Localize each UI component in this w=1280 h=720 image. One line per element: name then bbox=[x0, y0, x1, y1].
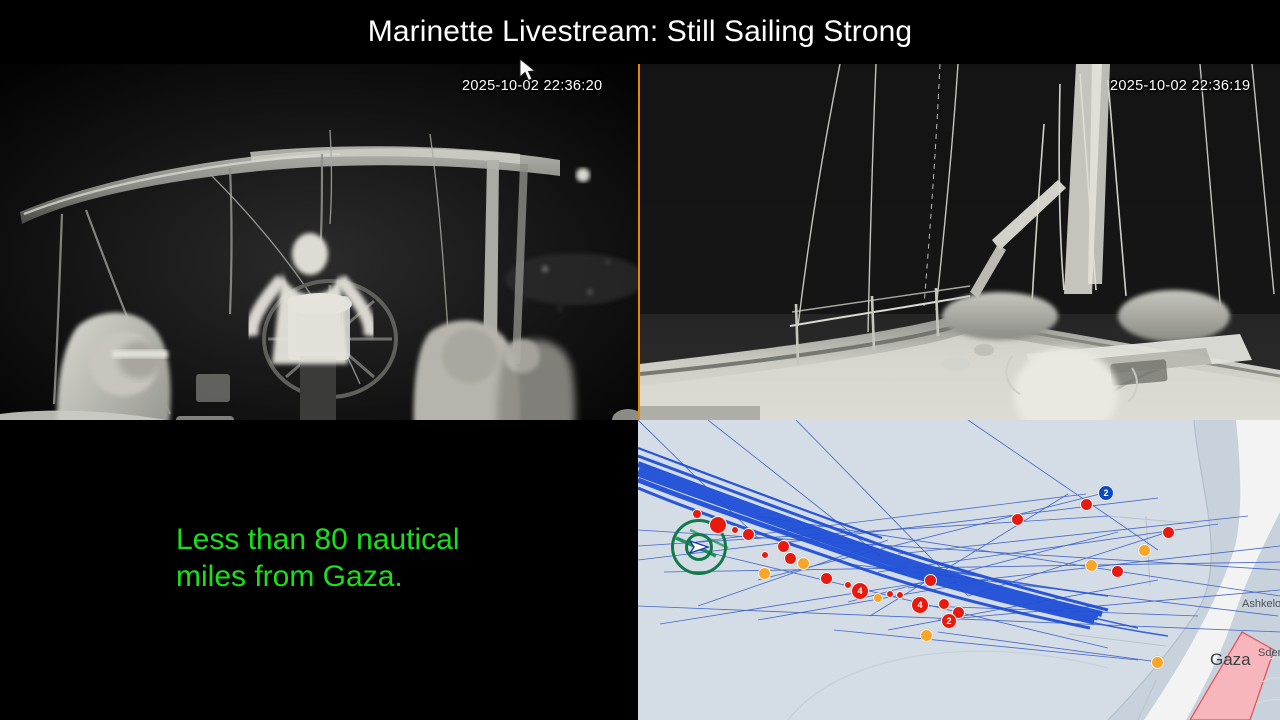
map-vessel-marker[interactable] bbox=[873, 593, 883, 603]
map-vessel-marker[interactable] bbox=[709, 516, 727, 534]
map-vessel-marker[interactable] bbox=[1138, 544, 1151, 557]
map-canvas bbox=[638, 420, 1280, 720]
cockpit-scene bbox=[0, 64, 638, 420]
map-vessel-marker[interactable] bbox=[692, 509, 702, 519]
map-vessel-marker[interactable] bbox=[896, 591, 904, 599]
map-vessel-marker[interactable] bbox=[1151, 656, 1164, 669]
map-vessel-marker[interactable] bbox=[784, 552, 797, 565]
map-vessel-marker[interactable] bbox=[731, 526, 739, 534]
map-vessel-marker[interactable] bbox=[820, 572, 833, 585]
map-vessel-marker[interactable] bbox=[1011, 513, 1024, 526]
map-vessel-marker[interactable]: 2 bbox=[941, 613, 957, 629]
bow-deck-scene bbox=[640, 64, 1280, 420]
cockpit-camera-feed[interactable] bbox=[0, 64, 638, 420]
map-vessel-marker[interactable]: 4 bbox=[851, 582, 869, 600]
map-vessel-marker[interactable] bbox=[777, 540, 790, 553]
map-vessel-marker[interactable] bbox=[1111, 565, 1124, 578]
marker-cluster-count: 2 bbox=[946, 617, 951, 626]
caption-text: Less than 80 nautical miles from Gaza. bbox=[176, 521, 460, 595]
map-vessel-marker[interactable] bbox=[886, 590, 894, 598]
page-title: Marinette Livestream: Still Sailing Stro… bbox=[368, 15, 912, 49]
camera-right-timestamp: 2025-10-02 22:36:19 bbox=[1110, 78, 1250, 94]
vessel-traffic-map[interactable]: Ashkelo Gaza Sder bbox=[638, 420, 1280, 720]
vessel-heading-arrow[interactable] bbox=[689, 538, 711, 556]
map-vessel-marker[interactable]: 4 bbox=[911, 596, 929, 614]
map-vessel-marker[interactable] bbox=[742, 528, 755, 541]
map-vessel-marker[interactable]: 2 bbox=[1098, 485, 1114, 501]
map-vessel-marker[interactable] bbox=[1080, 498, 1093, 511]
livestream-screen: Marinette Livestream: Still Sailing Stro… bbox=[0, 0, 1280, 720]
map-vessel-marker[interactable] bbox=[920, 629, 933, 642]
mouse-pointer-icon bbox=[518, 58, 538, 84]
map-vessel-marker[interactable] bbox=[797, 557, 810, 570]
map-vessel-marker[interactable] bbox=[938, 598, 950, 610]
marker-cluster-count: 2 bbox=[1103, 489, 1108, 498]
map-vessel-marker[interactable] bbox=[761, 551, 769, 559]
map-vessel-marker[interactable] bbox=[758, 567, 771, 580]
marker-cluster-count: 4 bbox=[857, 587, 862, 596]
bow-deck-camera-feed[interactable] bbox=[640, 64, 1280, 420]
map-vessel-marker[interactable] bbox=[1085, 559, 1098, 572]
marker-cluster-count: 4 bbox=[917, 601, 922, 610]
map-vessel-marker[interactable] bbox=[924, 574, 937, 587]
stream-title-bar: Marinette Livestream: Still Sailing Stro… bbox=[0, 0, 1280, 64]
map-vessel-marker[interactable] bbox=[1162, 526, 1175, 539]
